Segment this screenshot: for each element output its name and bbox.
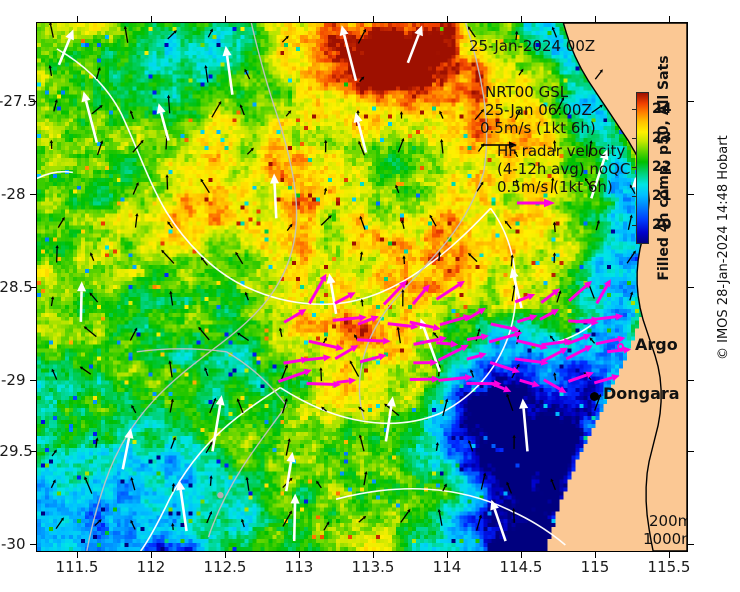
- y-tick-right: [688, 194, 694, 195]
- colorbar-tick: [632, 225, 636, 226]
- x-tick-label: 112.5: [204, 558, 247, 576]
- radar-legend-line2: (4-12h avg) noQC: [497, 160, 630, 178]
- x-tick-top: [225, 16, 226, 22]
- colorbar-tick: [632, 196, 636, 197]
- y-tick-right: [688, 101, 694, 102]
- dongara-label: Dongara: [603, 385, 680, 403]
- imos-credit: © IMOS 28-Jan-2024 14:48 Hobart: [716, 135, 731, 360]
- colorbar-tick: [632, 109, 636, 110]
- radar-reference-arrow: [515, 197, 557, 209]
- depth-1000m-label: 1000m: [643, 530, 688, 548]
- wind-legend-line2: 25-Jan 06:00Z: [485, 101, 592, 119]
- radar-legend-line3: 0.5m/s (1kt 6h): [497, 178, 613, 196]
- depth-200m-label: 200m: [649, 512, 688, 530]
- y-tick-label: -28.5: [0, 278, 33, 296]
- y-tick: [30, 194, 36, 195]
- y-tick-label: -30: [1, 535, 26, 553]
- x-tick-label: 114: [433, 558, 462, 576]
- x-tick-top: [521, 16, 522, 22]
- argo-legend-label: Argo: [635, 336, 678, 354]
- x-tick-top: [447, 16, 448, 22]
- y-tick-right: [688, 451, 694, 452]
- colorbar[interactable]: [636, 92, 649, 244]
- y-tick-right: [688, 287, 694, 288]
- y-tick-right: [688, 544, 694, 545]
- x-tick-label: 115: [581, 558, 610, 576]
- x-tick-top: [373, 16, 374, 22]
- x-tick-top: [77, 16, 78, 22]
- x-tick-label: 113.5: [352, 558, 395, 576]
- x-tick-label: 115.5: [648, 558, 691, 576]
- x-tick-top: [151, 16, 152, 22]
- x-tick-top: [595, 16, 596, 22]
- y-tick-label: -29.5: [0, 442, 33, 460]
- map-plot-area[interactable]: 25-Jan-2024 00Z NRT00 GSL 25-Jan 06:00Z …: [36, 22, 688, 552]
- x-tick-top: [669, 16, 670, 22]
- figure-canvas: 25-Jan-2024 00Z NRT00 GSL 25-Jan 06:00Z …: [0, 0, 740, 592]
- y-tick: [30, 380, 36, 381]
- colorbar-tick: [632, 138, 636, 139]
- y-tick-label: -27.5: [0, 92, 37, 110]
- depth-legend-rule: [643, 551, 688, 552]
- colorbar-title: Filled 4h comp, p50, All Sats: [656, 55, 672, 280]
- y-tick: [30, 544, 36, 545]
- argo-legend-marker: [617, 343, 624, 350]
- y-tick-right: [688, 380, 694, 381]
- x-tick-label: 114.5: [500, 558, 543, 576]
- y-tick-label: -29: [1, 371, 26, 389]
- y-tick-label: -28: [1, 185, 26, 203]
- x-tick-label: 112: [137, 558, 166, 576]
- x-tick-label: 111.5: [56, 558, 99, 576]
- colorbar-tick: [632, 167, 636, 168]
- x-tick-label: 113: [285, 558, 314, 576]
- wind-legend-line3: 0.5m/s (1kt 6h): [480, 119, 596, 137]
- wind-legend-line1: NRT00 GSL: [485, 83, 568, 101]
- dongara-marker: [590, 392, 599, 401]
- radar-legend-line1: HF radar velocity: [497, 142, 625, 160]
- title-datetime: 25-Jan-2024 00Z: [469, 37, 595, 55]
- x-tick-top: [299, 16, 300, 22]
